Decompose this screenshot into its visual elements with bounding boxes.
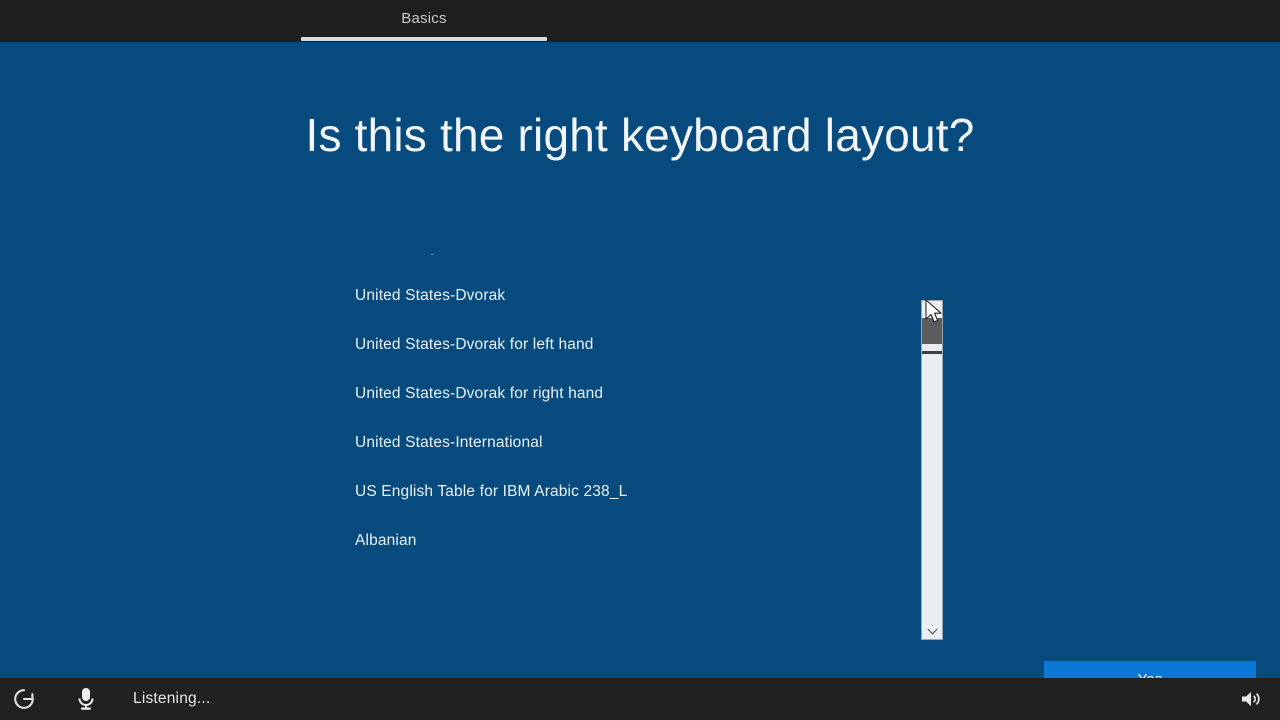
yes-button[interactable]: Yes: [1044, 661, 1256, 678]
setup-screen: Basics Is this the right keyboard layout…: [0, 0, 1280, 720]
listening-status: Listening...: [133, 678, 210, 720]
list-item-label: US English Table for IBM Arabic 238_L: [355, 483, 627, 501]
header-bar: Basics: [0, 0, 1280, 42]
keyboard-layout-list[interactable]: United KingdomUnited States-DvorakUnited…: [340, 254, 920, 602]
list-item[interactable]: United States-Dvorak for left hand: [340, 320, 920, 369]
listening-status-label: Listening...: [133, 690, 210, 708]
tab-basics[interactable]: Basics: [301, 0, 547, 42]
list-item-label: United States-Dvorak for right hand: [355, 385, 603, 403]
list-item[interactable]: United States-Dvorak: [340, 271, 920, 320]
tab-basics-label: Basics: [401, 11, 446, 32]
list-item-label: United Kingdom: [355, 254, 467, 256]
tab-active-indicator: [301, 37, 547, 41]
list-item-label: United States-Dvorak for left hand: [355, 336, 594, 354]
scrollbar-thumb[interactable]: [922, 318, 942, 344]
list-scrollbar[interactable]: [921, 300, 943, 640]
list-item[interactable]: Albanian: [340, 516, 920, 565]
ease-of-access-icon[interactable]: [10, 685, 38, 713]
list-item-label: United States-Dvorak: [355, 287, 505, 305]
chevron-down-icon: [927, 624, 937, 634]
scroll-up-button[interactable]: [922, 301, 942, 318]
list-item-label: United States-International: [355, 434, 543, 452]
list-item-label: Albanian: [355, 532, 417, 550]
chevron-up-icon: [927, 306, 937, 316]
scrollbar-track[interactable]: [922, 354, 942, 622]
microphone-icon[interactable]: [72, 684, 100, 714]
list-item[interactable]: United States-International: [340, 418, 920, 467]
taskbar: Listening...: [0, 678, 1280, 720]
list-item[interactable]: United Kingdom: [340, 254, 920, 271]
list-item[interactable]: United States-Dvorak for right hand: [340, 369, 920, 418]
page-title: Is this the right keyboard layout?: [0, 108, 1280, 162]
scroll-down-button[interactable]: [922, 622, 942, 639]
main-stage: Is this the right keyboard layout? Unite…: [0, 42, 1280, 678]
list-item[interactable]: US English Table for IBM Arabic 238_L: [340, 467, 920, 516]
speaker-volume-icon[interactable]: [1236, 685, 1266, 713]
